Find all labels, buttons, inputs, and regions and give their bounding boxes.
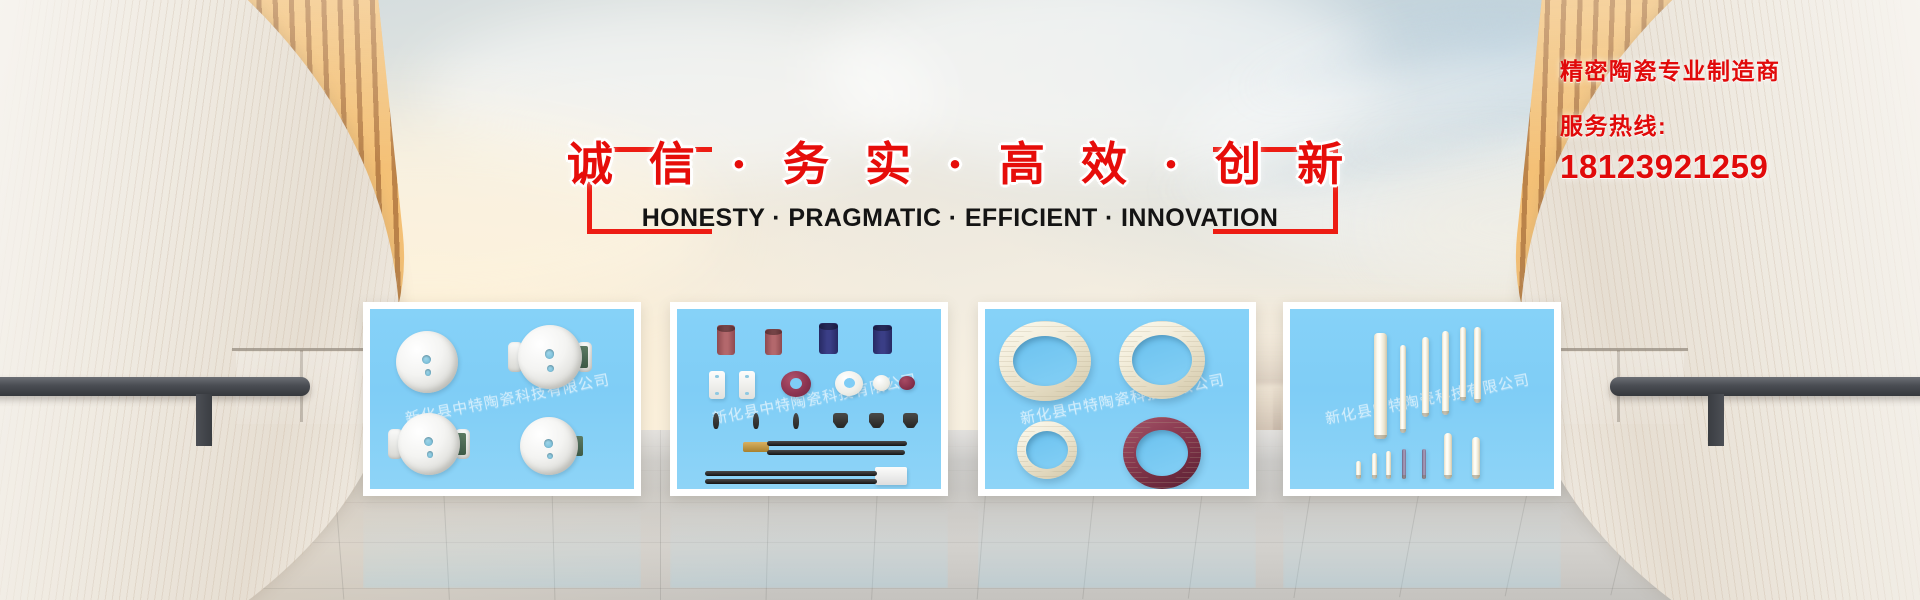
- lamp-holder-hole: [544, 439, 553, 448]
- ceramic-ring-ivory: [999, 321, 1091, 401]
- ceramic-disc-white: [873, 375, 890, 391]
- ceramic-rod: [1474, 327, 1481, 403]
- ceramic-rod: [1472, 437, 1480, 479]
- ceramic-disc-red: [899, 376, 915, 390]
- product-gallery: 新化县中特陶瓷科技有限公司 新化县中特陶瓷科技有限公司 新化县中特陶瓷科技有限公…: [0, 0, 1920, 600]
- metal-clip: [869, 413, 884, 428]
- wire-connector: [875, 467, 907, 485]
- ceramic-tube: [873, 325, 892, 354]
- rod-end: [1356, 475, 1361, 479]
- metal-contact-pin: [793, 413, 799, 429]
- rod-end: [1422, 413, 1429, 417]
- ceramic-rod: [1444, 433, 1452, 479]
- plate-hole: [715, 375, 719, 378]
- rod-end: [1442, 411, 1449, 415]
- metal-clip: [903, 413, 918, 428]
- ring-bore: [1013, 336, 1077, 386]
- metal-contact-pin: [753, 413, 759, 429]
- ceramic-ring-ivory: [1119, 321, 1205, 399]
- ceramic-rod-purple: [1402, 449, 1406, 479]
- ceramic-plate: [709, 371, 725, 399]
- ceramic-rod: [1374, 333, 1387, 439]
- ceramic-rod: [1442, 331, 1449, 415]
- ceramic-plate: [739, 371, 755, 399]
- rod-end: [1472, 475, 1480, 479]
- ceramic-tube: [717, 325, 735, 355]
- ceramic-ring-white-hole: [844, 378, 855, 388]
- ceramic-rod-purple: [1422, 449, 1426, 479]
- product-panel-ceramic-lamp-holders[interactable]: 新化县中特陶瓷科技有限公司: [363, 302, 641, 496]
- ceramic-ring-maroon: [1123, 417, 1201, 489]
- ceramic-lamp-holder: [518, 325, 582, 389]
- product-panel-ceramic-rods[interactable]: 新化县中特陶瓷科技有限公司: [1283, 302, 1561, 496]
- banner-stage: 诚 信 · 务 实 · 高 效 · 创 新 HONESTY · PRAGMATI…: [0, 0, 1920, 600]
- plate-hole: [715, 392, 719, 395]
- metal-contact-pin: [713, 413, 719, 429]
- product-panel-ceramic-rings[interactable]: 新化县中特陶瓷科技有限公司: [978, 302, 1256, 496]
- lead-wire: [767, 450, 905, 455]
- ceramic-tube: [819, 323, 838, 354]
- ceramic-rod: [1356, 461, 1361, 479]
- ring-bore: [1026, 431, 1068, 469]
- ceramic-rod: [1386, 451, 1391, 479]
- ceramic-tube: [765, 329, 782, 355]
- lead-wire: [767, 441, 907, 446]
- ceramic-ring-red-hole: [790, 378, 802, 389]
- rod-end: [1400, 429, 1406, 433]
- ceramic-rod: [1400, 345, 1406, 433]
- rod-end: [1372, 475, 1377, 479]
- ceramic-rod: [1460, 327, 1466, 401]
- ceramic-lamp-holder: [398, 413, 460, 475]
- rod-end: [1374, 435, 1387, 439]
- watermark: 新化县中特陶瓷科技有限公司: [693, 365, 935, 432]
- rod-end: [1444, 475, 1452, 479]
- rod-end: [1460, 397, 1466, 401]
- ceramic-ring-ivory: [1017, 421, 1077, 479]
- plate-hole: [745, 375, 749, 378]
- product-panel-ceramic-components[interactable]: 新化县中特陶瓷科技有限公司: [670, 302, 948, 496]
- lead-wire: [705, 479, 877, 484]
- ring-bore: [1136, 430, 1188, 476]
- ceramic-lamp-holder: [520, 417, 578, 475]
- ceramic-lamp-holder: [396, 331, 458, 393]
- ceramic-rod: [1422, 337, 1429, 417]
- rod-end: [1386, 475, 1391, 479]
- rod-end: [1474, 399, 1481, 403]
- metal-clip: [833, 413, 848, 428]
- rod-end: [1402, 475, 1406, 479]
- lead-wire: [705, 471, 877, 476]
- ring-bore: [1132, 335, 1192, 385]
- rod-end: [1422, 475, 1426, 479]
- brass-terminal: [743, 442, 769, 452]
- ceramic-rod: [1372, 453, 1377, 479]
- plate-hole: [745, 392, 749, 395]
